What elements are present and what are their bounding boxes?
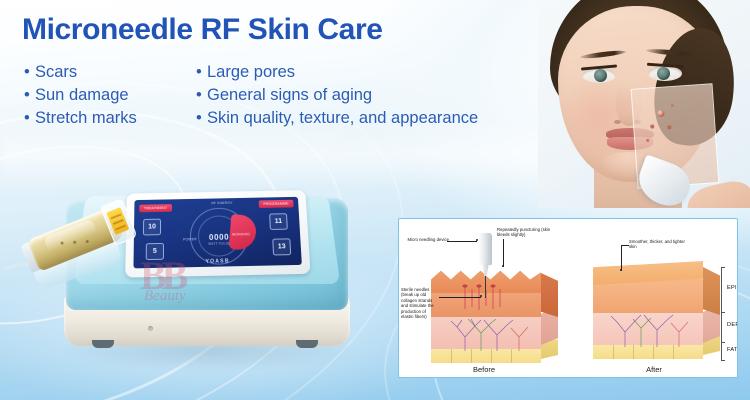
microneedling-pen-body: [479, 233, 492, 265]
before-caption: Before: [399, 365, 569, 374]
epidermis-front-after: [593, 279, 703, 313]
bullet-icon: •: [196, 61, 207, 84]
benefit-label: Stretch marks: [35, 109, 137, 127]
treatment-button[interactable]: TREATMENT: [139, 204, 172, 212]
device-foot: [296, 340, 318, 348]
bullet-icon: •: [24, 61, 35, 84]
bullet-icon: •: [24, 107, 35, 130]
screen-value-energy[interactable]: 10: [143, 219, 161, 236]
programme-button[interactable]: PROGRAMME: [259, 200, 294, 208]
leader-line: [439, 297, 481, 298]
fat-brace: [721, 343, 722, 361]
blood-vessels-after: [597, 313, 701, 347]
benefit-label: Scars: [35, 63, 77, 81]
epidermis-brace: [721, 267, 722, 313]
list-item: •Stretch marks: [24, 107, 137, 130]
header-text-block: Microneedle RF Skin Care •Scars •Sun dam…: [0, 0, 560, 142]
acne-blemish: [667, 125, 671, 129]
device-touchscreen[interactable]: TREATMENT PROGRAMME RF ENERGY POWER WORK…: [133, 197, 301, 269]
label-micro-needling-device: Micro needling device: [405, 237, 449, 242]
derma-brace: [721, 313, 722, 343]
diagram-after-panel: Smoother, thicker, and tighter skin EPID…: [569, 219, 738, 378]
diagram-before-panel: Micro needling device Repeatedly punctur…: [399, 219, 569, 378]
promotional-banner: Microneedle RF Skin Care •Scars •Sun dam…: [0, 0, 750, 400]
model-photo: [538, 0, 750, 208]
label-sterile-needles: Sterile needles (break up old collagen s…: [401, 287, 439, 319]
gauge-left-label: POWER: [183, 237, 197, 241]
brace-tick: [721, 360, 725, 361]
screen-value-time[interactable]: 11: [269, 213, 288, 230]
leader-line: [447, 241, 477, 242]
epidermis-side-after: [703, 267, 720, 315]
page-title: Microneedle RF Skin Care: [22, 13, 383, 47]
layer-label-fat: FAT: [727, 347, 738, 353]
layer-label-derma: DERMA: [727, 322, 738, 328]
model-iris-left: [594, 69, 607, 82]
list-item: •Scars: [24, 61, 137, 84]
leader-line: [621, 245, 622, 271]
benefits-column-right: •Large pores •General signs of aging •Sk…: [196, 61, 478, 130]
list-item: •Skin quality, texture, and appearance: [196, 107, 478, 130]
benefits-column-left: •Scars •Sun damage •Stretch marks: [24, 61, 137, 130]
brace-tick: [721, 267, 725, 268]
rf-microneedling-machine: TREATMENT PROGRAMME RF ENERGY POWER WORK…: [56, 178, 358, 370]
epidermis-side-before: [541, 273, 558, 317]
benefit-label: General signs of aging: [207, 86, 372, 104]
benefit-label: Large pores: [207, 63, 295, 81]
list-item: •General signs of aging: [196, 84, 478, 107]
needle-shaft: [485, 276, 486, 298]
label-smoother-thicker-tighter-skin: Smoother, thicker, and tighter skin: [629, 239, 693, 250]
model-nostril-left: [614, 120, 621, 124]
screen-value-level[interactable]: 13: [272, 238, 291, 255]
device-screw: [148, 326, 153, 331]
leader-line: [621, 245, 629, 246]
benefit-label: Sun damage: [35, 86, 129, 104]
after-caption: After: [569, 365, 738, 374]
skin-cross-section-diagram: Micro needling device Repeatedly punctur…: [398, 218, 738, 378]
bullet-icon: •: [24, 84, 35, 107]
list-item: •Sun damage: [24, 84, 137, 107]
gauge-top-label: RF ENERGY: [211, 201, 232, 205]
bullet-icon: •: [196, 84, 207, 107]
list-item: •Large pores: [196, 61, 478, 84]
layer-label-epidermis: EPIDERMIS: [727, 285, 738, 291]
benefit-label: Skin quality, texture, and appearance: [207, 109, 478, 127]
model-iris-right: [657, 67, 670, 80]
leader-line: [503, 239, 504, 267]
bullet-icon: •: [196, 107, 207, 130]
leader-endpoint: [502, 265, 504, 267]
label-repeated-puncturing: Repeatedly puncturing (skin bleeds sligh…: [497, 227, 561, 238]
blood-vessels-before: [435, 317, 539, 351]
device-foot: [92, 340, 114, 348]
